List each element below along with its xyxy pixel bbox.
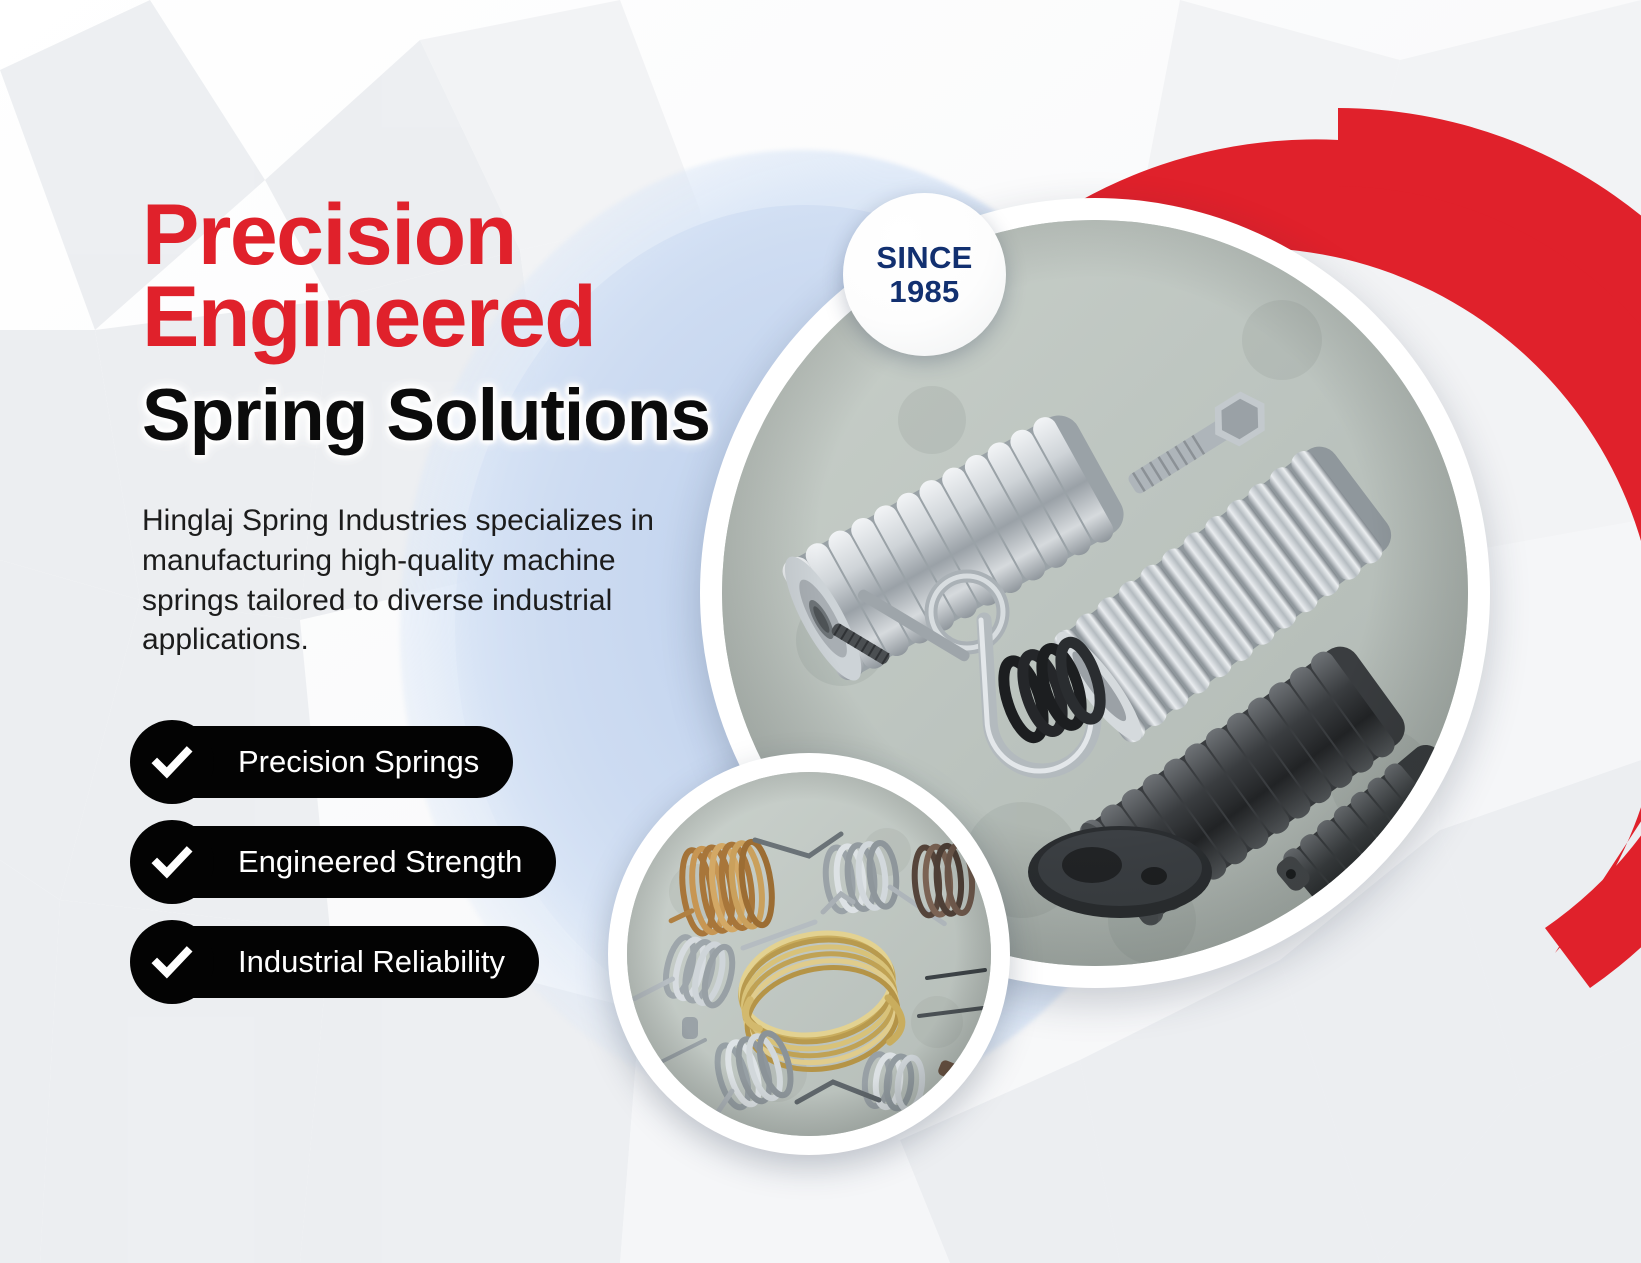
headline-red-line2: Engineered <box>142 277 742 359</box>
since-badge-line1: SINCE <box>876 241 972 274</box>
feature-pill-label: Industrial Reliability <box>238 944 505 980</box>
hero-paragraph: Hinglaj Spring Industries specializes in… <box>142 501 682 659</box>
feature-pill-engineered-strength[interactable]: Engineered Strength <box>142 826 556 898</box>
hero-content: Precision Engineered Spring Solutions Hi… <box>142 195 742 1026</box>
feature-pill-label: Precision Springs <box>238 744 479 780</box>
since-badge-line2: 1985 <box>889 275 959 308</box>
headline-red-line1: Precision <box>142 195 742 277</box>
feature-pill-industrial-reliability[interactable]: Industrial Reliability <box>142 926 539 998</box>
check-icon <box>130 720 214 804</box>
feature-pill-label: Engineered Strength <box>238 844 522 880</box>
hero-banner: SINCE 1985 <box>0 0 1641 1263</box>
check-icon <box>130 820 214 904</box>
headline-black: Spring Solutions <box>142 374 710 457</box>
feature-pill-list: Precision Springs Engineered Strength <box>142 726 742 1026</box>
feature-pill-precision-springs[interactable]: Precision Springs <box>142 726 513 798</box>
since-badge: SINCE 1985 <box>843 193 1006 356</box>
check-icon <box>130 920 214 1004</box>
